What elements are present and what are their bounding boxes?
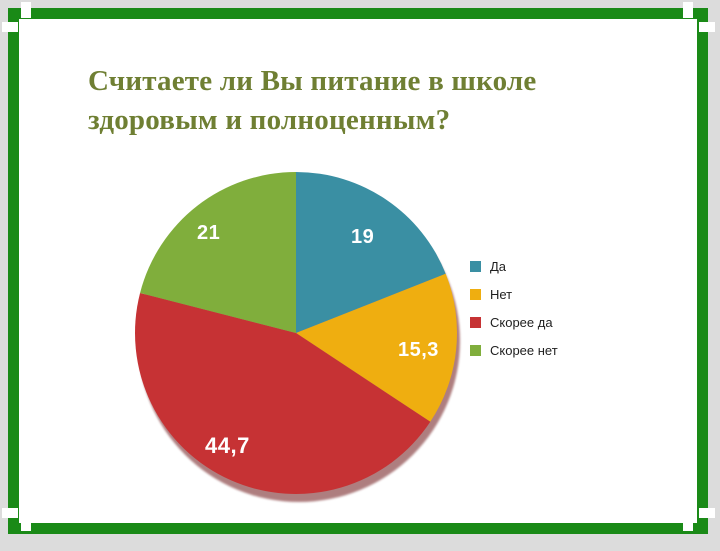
legend-swatch-skoree-da <box>470 317 481 328</box>
frame-notch-right-top <box>699 22 715 32</box>
frame-notch-left-bottom <box>2 508 18 518</box>
frame-notch-top-left <box>21 2 31 18</box>
slide-canvas: Считаете ли Вы питание в школе здоровым … <box>0 0 720 551</box>
frame-notch-top-right <box>683 2 693 18</box>
legend-label-da: Да <box>490 259 506 274</box>
slice-label-skoree-net: 21 <box>197 222 220 245</box>
slice-label-da: 19 <box>351 226 374 249</box>
chart-legend: Да Нет Скорее да Скорее нет <box>470 252 650 364</box>
legend-item-da[interactable]: Да <box>470 252 650 280</box>
legend-swatch-da <box>470 261 481 272</box>
legend-label-skoree-net: Скорее нет <box>490 343 558 358</box>
pie-slices <box>135 172 457 494</box>
frame-notch-left-top <box>2 22 18 32</box>
legend-swatch-skoree-net <box>470 345 481 356</box>
legend-item-skoree-da[interactable]: Скорее да <box>470 308 650 336</box>
slice-label-net: 15,3 <box>398 339 439 362</box>
slide-title: Считаете ли Вы питание в школе здоровым … <box>88 62 648 141</box>
slice-label-skoree-da: 44,7 <box>205 433 250 459</box>
pie-chart: 19 15,3 44,7 21 Да Нет Скорее да Скорее … <box>30 160 690 530</box>
frame-notch-right-bottom <box>699 508 715 518</box>
legend-swatch-net <box>470 289 481 300</box>
legend-item-net[interactable]: Нет <box>470 280 650 308</box>
pie-graphic: 19 15,3 44,7 21 <box>135 172 465 506</box>
legend-label-net: Нет <box>490 287 512 302</box>
legend-item-skoree-net[interactable]: Скорее нет <box>470 336 650 364</box>
legend-label-skoree-da: Скорее да <box>490 315 553 330</box>
